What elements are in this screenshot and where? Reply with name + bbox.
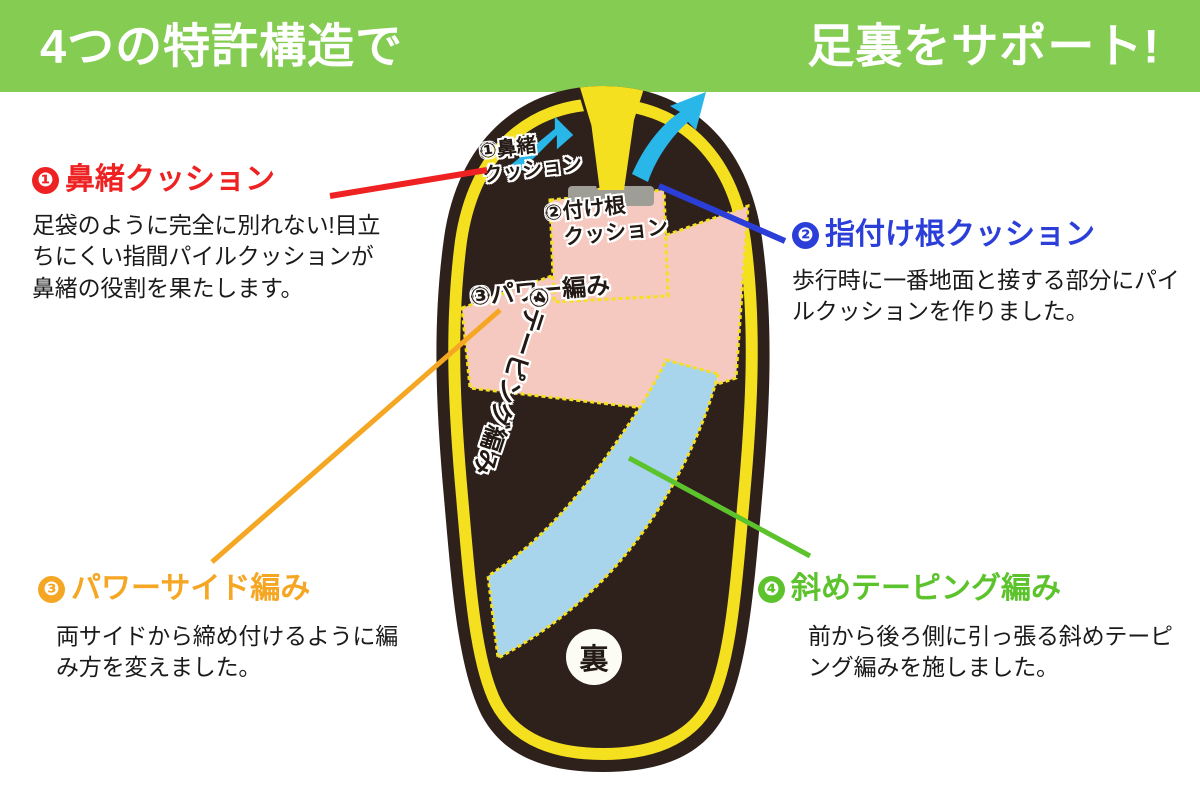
callout-2-body: 歩行時に一番地面と接する部分にパイルクッションを作りました。: [792, 265, 1182, 328]
callout-2-title: ❷ 指付け根クッション: [792, 218, 1182, 253]
callout-1-title-text: 鼻緒クッション: [65, 163, 275, 198]
callout-2-title-text: 指付け根クッション: [825, 218, 1095, 253]
sole-view-badge: 裏: [566, 629, 622, 685]
callout-3-number: ❸: [38, 576, 65, 603]
callout-4-number: ❹: [758, 576, 785, 603]
callout-3: ❸ パワーサイド編み 両サイドから締め付けるように編み方を変えました。: [38, 572, 403, 684]
callout-2-number: ❷: [792, 222, 819, 249]
infographic-root: 4つの特許構造で 足裏をサポート!: [0, 0, 1200, 800]
callout-1-number: ❶: [32, 167, 59, 194]
callout-3-title-text: パワーサイド編み: [71, 572, 310, 607]
banner-title-left: 4つの特許構造で: [40, 23, 403, 70]
diagram-label-1-line1: 鼻緒: [495, 134, 537, 161]
callout-1-body: 足袋のように完全に別れない!目立ちにくい指間パイルクッションが鼻緒の役割を果たし…: [32, 210, 392, 305]
diagram-label-3-number: ③: [469, 281, 492, 311]
callout-4-body: 前から後ろ側に引っ張る斜めテーピング編みを施しました。: [808, 621, 1178, 684]
sole-view-badge-label: 裏: [579, 636, 608, 678]
callout-4-title-text: 斜めテーピング編み: [791, 572, 1061, 607]
banner-title-right: 足裏をサポート!: [807, 23, 1160, 70]
callout-4: ❹ 斜めテーピング編み 前から後ろ側に引っ張る斜めテーピング編みを施しました。: [758, 572, 1178, 684]
callout-2: ❷ 指付け根クッション 歩行時に一番地面と接する部分にパイルクッションを作りまし…: [792, 218, 1182, 328]
callout-4-title: ❹ 斜めテーピング編み: [758, 572, 1178, 607]
callout-3-body: 両サイドから締め付けるように編み方を変えました。: [56, 621, 403, 684]
callout-3-title: ❸ パワーサイド編み: [38, 572, 403, 607]
callout-1-title: ❶ 鼻緒クッション: [32, 163, 392, 198]
callout-1: ❶ 鼻緒クッション 足袋のように完全に別れない!目立ちにくい指間パイルクッション…: [32, 163, 392, 305]
